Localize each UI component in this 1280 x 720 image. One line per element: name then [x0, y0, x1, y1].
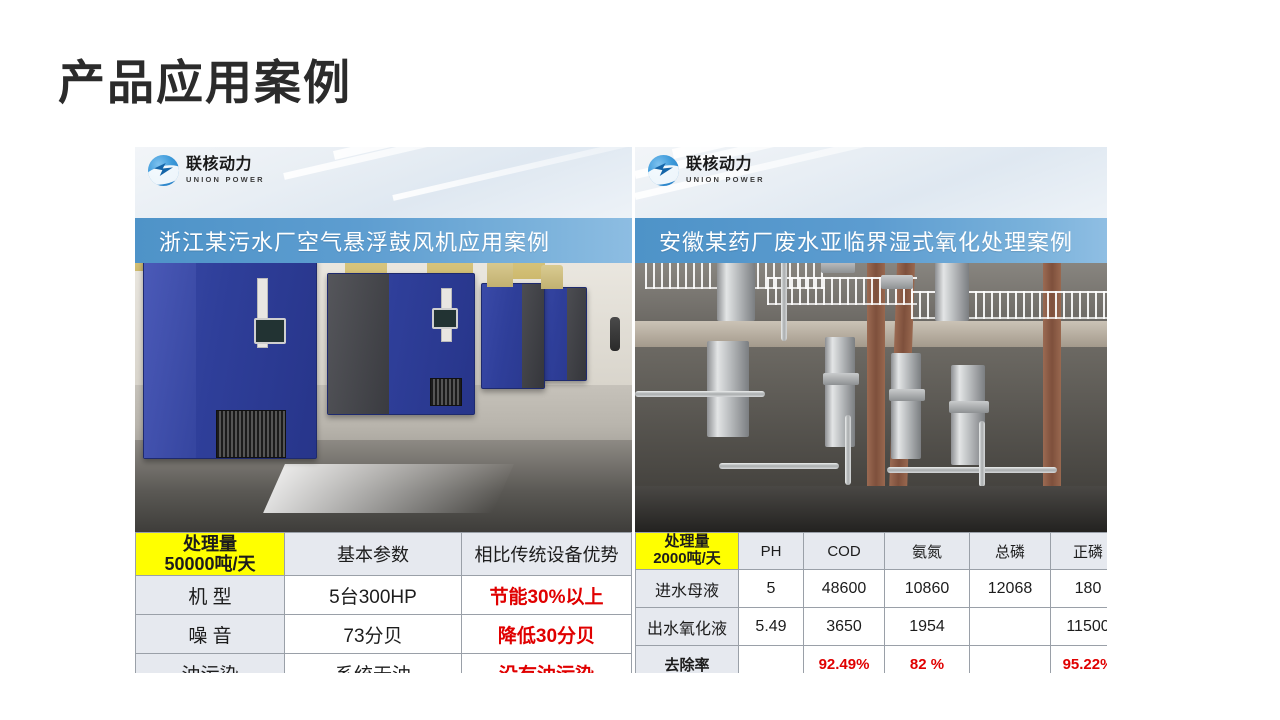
brand-wordmark: 联核动力 UNION POWER	[686, 157, 765, 184]
process-pipe	[887, 467, 1057, 473]
brand-name-en: UNION POWER	[186, 176, 265, 184]
cell-total-phosphorus: 12068	[970, 570, 1051, 608]
cell-orthophosphate: 95.22%	[1051, 646, 1108, 674]
header-capacity-cell: 处理量 2000吨/天	[636, 533, 739, 570]
table-row: 出水氧化液 5.49 3650 1954 11500	[636, 608, 1108, 646]
row-param: 5台300HP	[285, 576, 462, 615]
cell-total-phosphorus	[970, 646, 1051, 674]
blower-unit	[481, 283, 545, 389]
blower-unit	[143, 257, 317, 459]
blower-room-scene	[135, 225, 632, 532]
spec-table-left-wrapper: 处理量 50000吨/天 基本参数 相比传统设备优势 机 型 5台300HP 节…	[135, 532, 632, 673]
spec-table-right-wrapper: 处理量 2000吨/天 PH COD 氨氮 总磷 正磷 进水母液 5 48600…	[635, 532, 1107, 673]
header-capacity-line2: 2000吨/天	[637, 551, 737, 568]
header-capacity-cell: 处理量 50000吨/天	[136, 533, 285, 576]
case-banner-right: 安徽某药厂废水亚临界湿式氧化处理案例	[635, 218, 1107, 263]
case-photo-right: 联核动力 UNION POWER	[635, 147, 1107, 532]
row-advantage: 没有油污染	[462, 654, 632, 673]
table-row: 油污染 系统无油 没有油污染	[136, 654, 632, 673]
header-ph: PH	[739, 533, 804, 570]
header-basic-params: 基本参数	[285, 533, 462, 576]
cell-cod: 92.49%	[804, 646, 885, 674]
row-param: 73分贝	[285, 615, 462, 654]
row-label: 油污染	[136, 654, 285, 673]
pipe-flange	[949, 401, 989, 413]
floor-highlight	[263, 464, 513, 513]
worker-figure	[610, 317, 620, 351]
case-panel-left: 联核动力 UNION POWER	[135, 147, 632, 673]
blower-unit	[327, 273, 475, 415]
brand-name-cn: 联核动力	[186, 157, 265, 173]
case-banner-text: 安徽某药厂废水亚临界湿式氧化处理案例	[635, 225, 1073, 257]
spec-table-left: 处理量 50000吨/天 基本参数 相比传统设备优势 机 型 5台300HP 节…	[135, 532, 632, 673]
table-row: 噪 音 73分贝 降低30分贝	[136, 615, 632, 654]
brand-logo: 联核动力 UNION POWER	[148, 155, 265, 186]
brand-wordmark: 联核动力 UNION POWER	[186, 157, 265, 184]
header-capacity-line1: 处理量	[137, 534, 283, 554]
row-advantage: 降低30分贝	[462, 615, 632, 654]
case-banner-text: 浙江某污水厂空气悬浮鼓风机应用案例	[135, 225, 550, 257]
table-header-row: 处理量 50000吨/天 基本参数 相比传统设备优势	[136, 533, 632, 576]
row-label: 去除率	[636, 646, 739, 674]
table-header-row: 处理量 2000吨/天 PH COD 氨氮 总磷 正磷	[636, 533, 1108, 570]
case-photo-left: 联核动力 UNION POWER	[135, 147, 632, 532]
process-pipe	[719, 463, 839, 469]
row-label: 噪 音	[136, 615, 285, 654]
header-total-phosphorus: 总磷	[970, 533, 1051, 570]
header-ammonia-nitrogen: 氨氮	[885, 533, 970, 570]
cell-cod: 48600	[804, 570, 885, 608]
table-row: 进水母液 5 48600 10860 12068 180	[636, 570, 1108, 608]
cell-ammonia: 10860	[885, 570, 970, 608]
hmi-display	[254, 318, 286, 344]
plant-building-scene	[635, 225, 1107, 532]
process-column-stack	[707, 341, 749, 437]
union-power-logo-icon	[648, 155, 679, 186]
cell-total-phosphorus	[970, 608, 1051, 646]
case-panel-right: 联核动力 UNION POWER	[635, 147, 1107, 673]
brand-logo: 联核动力 UNION POWER	[648, 155, 765, 186]
cell-cod: 3650	[804, 608, 885, 646]
header-advantage: 相比传统设备优势	[462, 533, 632, 576]
case-banner-left: 浙江某污水厂空气悬浮鼓风机应用案例	[135, 218, 632, 263]
union-power-logo-icon	[148, 155, 179, 186]
brand-name-en: UNION POWER	[686, 176, 765, 184]
pipe-flange	[889, 389, 925, 401]
air-filter-tank	[487, 261, 513, 287]
water-quality-table: 处理量 2000吨/天 PH COD 氨氮 总磷 正磷 进水母液 5 48600…	[635, 532, 1107, 673]
table-row: 机 型 5台300HP 节能30%以上	[136, 576, 632, 615]
header-orthophosphate: 正磷	[1051, 533, 1108, 570]
process-column-stack	[891, 353, 921, 459]
page-title: 产品应用案例	[58, 58, 352, 107]
ground-shadow	[635, 486, 1107, 532]
cell-ph: 5.49	[739, 608, 804, 646]
hmi-display	[432, 308, 458, 329]
cell-ph: 5	[739, 570, 804, 608]
cell-ph	[739, 646, 804, 674]
row-label: 出水氧化液	[636, 608, 739, 646]
cell-orthophosphate: 180	[1051, 570, 1108, 608]
process-pipe	[635, 391, 765, 397]
pipe-flange	[823, 373, 859, 385]
row-advantage: 节能30%以上	[462, 576, 632, 615]
header-capacity-line1: 处理量	[637, 534, 737, 551]
pipe-flange	[881, 275, 913, 289]
header-cod: COD	[804, 533, 885, 570]
row-label: 进水母液	[636, 570, 739, 608]
row-label: 机 型	[136, 576, 285, 615]
header-capacity-line2: 50000吨/天	[137, 554, 283, 574]
brand-name-cn: 联核动力	[686, 157, 765, 173]
row-param: 系统无油	[285, 654, 462, 673]
cell-ammonia: 82 %	[885, 646, 970, 674]
vent-grille	[216, 410, 286, 458]
process-pipe	[979, 421, 985, 487]
table-row: 去除率 92.49% 82 % 95.22%	[636, 646, 1108, 674]
air-filter-tank	[541, 265, 563, 289]
cell-orthophosphate: 11500	[1051, 608, 1108, 646]
process-pipe	[845, 415, 851, 485]
vent-grille	[430, 378, 462, 406]
cell-ammonia: 1954	[885, 608, 970, 646]
